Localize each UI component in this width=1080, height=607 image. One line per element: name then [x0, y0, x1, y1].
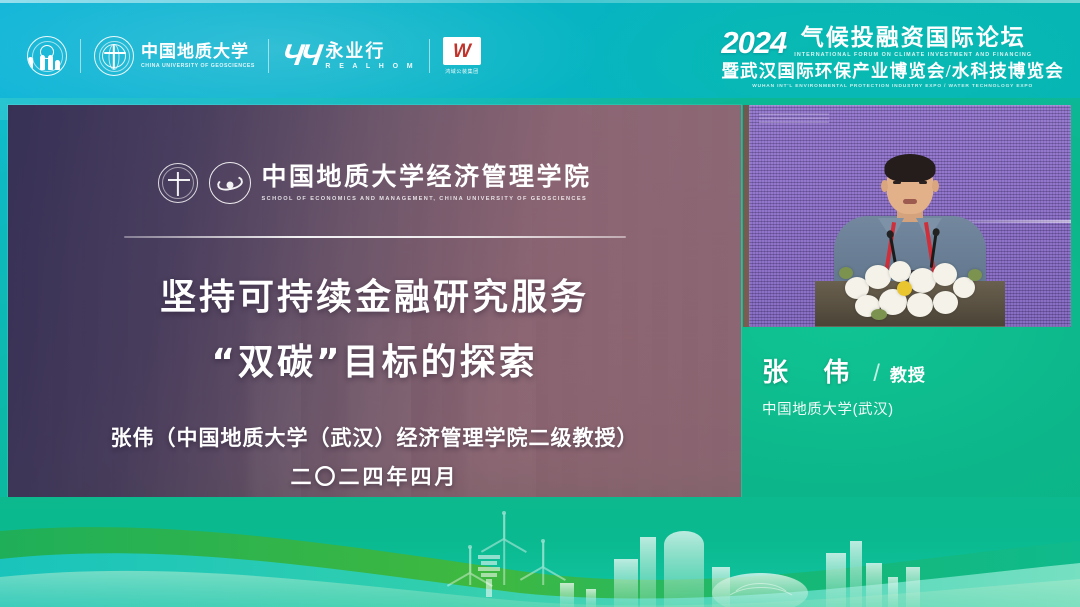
- slide-date: 二〇二四年四月: [8, 461, 741, 491]
- speaker-info-block: 张 伟 / 教授 中国地质大学(武汉): [762, 352, 926, 419]
- broadcast-stage: 中国地质大学 CHINA UNIVERSITY OF GEOSCIENCES Ч…: [0, 0, 1080, 607]
- wind-turbine-icon: [531, 541, 555, 585]
- cug-shield-emblem-icon: [94, 36, 134, 76]
- sponsor-logo-strip: 中国地质大学 CHINA UNIVERSITY OF GEOSCIENCES Ч…: [14, 28, 494, 84]
- realhom-name-en: R E A L H O M: [325, 63, 416, 70]
- school-name-cn: 中国地质大学经济管理学院: [261, 165, 591, 190]
- presentation-slide[interactable]: 中国地质大学经济管理学院 SCHOOL OF ECONOMICS AND MAN…: [8, 105, 741, 524]
- cug-shield-emblem-icon: [157, 163, 197, 203]
- wind-turbine-icon: [459, 547, 481, 585]
- cug-name-cn: 中国地质大学: [141, 43, 255, 61]
- speaker-hair: [885, 154, 936, 182]
- realhom-name-cn: 永业行: [325, 42, 416, 60]
- forum-title-en: INTERNATIONAL FORUM ON CLIMATE INVESTMEN…: [794, 52, 1032, 58]
- speaker-eye-right: [919, 181, 927, 184]
- forum-subtitle-en: WUHAN INT'L ENVIRONMENTAL PROTECTION IND…: [721, 84, 1064, 89]
- flower-arrangement: [835, 259, 985, 321]
- speaker-name: 张 伟: [762, 352, 863, 389]
- school-name-en: SCHOOL OF ECONOMICS AND MANAGEMENT, CHIN…: [261, 196, 591, 202]
- hongcheng-logo: W 鸿域公装集团: [430, 30, 494, 82]
- hongcheng-name-cn: 鸿域公装集团: [445, 68, 479, 75]
- cug-name-en: CHINA UNIVERSITY OF GEOSCIENCES: [141, 63, 255, 69]
- school-bird-emblem-icon: [208, 162, 250, 204]
- forum-title-main-row: 2024 气候投融资国际论坛 INTERNATIONAL FORUM ON CL…: [721, 26, 1064, 58]
- slide-content: 中国地质大学经济管理学院 SCHOOL OF ECONOMICS AND MAN…: [8, 105, 741, 524]
- speaker-eye-left: [893, 181, 901, 184]
- realhom-swoosh-icon: ЧЧ: [280, 41, 321, 71]
- speaker-mouth: [903, 199, 917, 204]
- realhom-logo: ЧЧ 永业行 R E A L H O M: [269, 30, 429, 82]
- speaker-video-feed[interactable]: [749, 105, 1071, 327]
- forum-year: 2024: [721, 29, 786, 58]
- speaker-title: 教授: [890, 361, 926, 386]
- speaker-ear-left: [881, 180, 888, 192]
- w-wing-glyph: W: [453, 42, 471, 61]
- cug-logo: 中国地质大学 CHINA UNIVERSITY OF GEOSCIENCES: [81, 30, 268, 82]
- speaker-organization: 中国地质大学(武汉): [762, 398, 926, 419]
- speaker-ear-right: [932, 180, 939, 192]
- forum-title-cn: 气候投融资国际论坛: [794, 26, 1032, 49]
- slide-presenter: 张伟（中国地质大学（武汉）经济管理学院二级教授）: [8, 422, 741, 452]
- organizer-emblem: [14, 30, 80, 82]
- forum-subtitle-cn: 暨武汉国际环保产业博览会/水科技博览会: [721, 63, 1064, 81]
- slide-title-line-1: 坚持可持续金融研究服务: [8, 268, 741, 320]
- speaker-separator: /: [873, 360, 880, 388]
- slide-title-line-2: “双碳”目标的探索: [8, 333, 741, 385]
- led-wall-text: [759, 111, 829, 123]
- slide-divider-rule: [124, 236, 626, 238]
- forum-title-block: 2024 气候投融资国际论坛 INTERNATIONAL FORUM ON CL…: [721, 26, 1064, 89]
- school-logo: 中国地质大学经济管理学院 SCHOOL OF ECONOMICS AND MAN…: [157, 162, 591, 204]
- w-wing-icon: W: [443, 37, 481, 65]
- speaker-name-row: 张 伟 / 教授: [762, 352, 926, 389]
- header-highlight-line: [0, 0, 1080, 3]
- people-globe-emblem-icon: [27, 36, 67, 76]
